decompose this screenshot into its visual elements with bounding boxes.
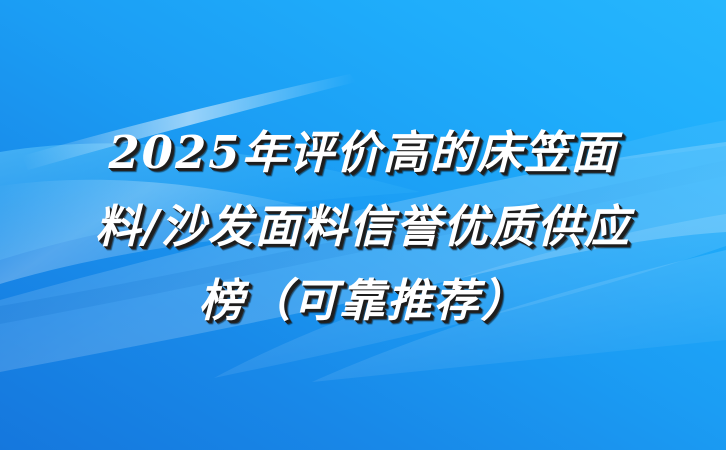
banner-title: 2025年评价高的床笠面 料/沙发面料信誉优质供应 榜（可靠推荐） (0, 116, 726, 338)
promo-banner: 2025年评价高的床笠面 料/沙发面料信誉优质供应 榜（可靠推荐） (0, 0, 726, 450)
title-line-1: 2025年评价高的床笠面 (0, 116, 726, 190)
title-line-3: 榜（可靠推荐） (0, 264, 726, 338)
title-line-2: 料/沙发面料信誉优质供应 (0, 190, 726, 264)
